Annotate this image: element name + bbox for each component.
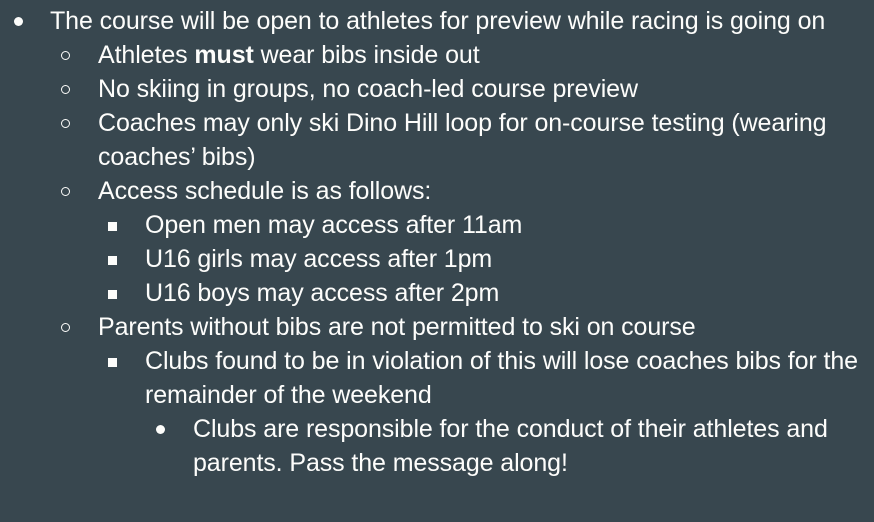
list-item: Athletes must wear bibs inside out [0, 38, 874, 72]
list-item: Coaches may only ski Dino Hill loop for … [0, 106, 874, 174]
list-item: Clubs are responsible for the conduct of… [0, 412, 874, 480]
square-bullet-icon [108, 222, 117, 231]
list-item-text: U16 boys may access after 2pm [145, 276, 870, 310]
circle-bullet-icon [61, 187, 70, 196]
list-item-text: Clubs found to be in violation of this w… [145, 344, 870, 412]
list-item: The course will be open to athletes for … [0, 4, 874, 38]
circle-bullet-icon [61, 323, 70, 332]
list-item: U16 boys may access after 2pm [0, 276, 874, 310]
list-item-text: Clubs are responsible for the conduct of… [193, 412, 869, 480]
list-item-text-emphasis: must [194, 41, 253, 69]
list-item-text-prefix: Athletes [98, 41, 194, 69]
list-item-text: Coaches may only ski Dino Hill loop for … [98, 106, 868, 174]
disc-bullet-icon [156, 425, 165, 434]
list-item-text: Access schedule is as follows: [98, 174, 868, 208]
slide-bullet-list: The course will be open to athletes for … [0, 4, 874, 480]
list-item: Parents without bibs are not permitted t… [0, 310, 874, 344]
circle-bullet-icon [61, 85, 70, 94]
square-bullet-icon [108, 358, 117, 367]
circle-bullet-icon [61, 51, 70, 60]
square-bullet-icon [108, 290, 117, 299]
square-bullet-icon [108, 256, 117, 265]
list-item-text: The course will be open to athletes for … [50, 4, 866, 38]
list-item: No skiing in groups, no coach-led course… [0, 72, 874, 106]
list-item-text: Open men may access after 11am [145, 208, 870, 242]
circle-bullet-icon [61, 119, 70, 128]
list-item: Clubs found to be in violation of this w… [0, 344, 874, 412]
list-item-text: Parents without bibs are not permitted t… [98, 310, 868, 344]
list-item: Access schedule is as follows: [0, 174, 874, 208]
list-item: Open men may access after 11am [0, 208, 874, 242]
list-item-text: U16 girls may access after 1pm [145, 242, 870, 276]
list-item-text: Athletes must wear bibs inside out [98, 38, 868, 72]
disc-bullet-icon [14, 17, 23, 26]
presentation-slide: The course will be open to athletes for … [0, 0, 874, 522]
list-item-text: No skiing in groups, no coach-led course… [98, 72, 868, 106]
list-item-text-suffix: wear bibs inside out [254, 41, 480, 69]
list-item: U16 girls may access after 1pm [0, 242, 874, 276]
